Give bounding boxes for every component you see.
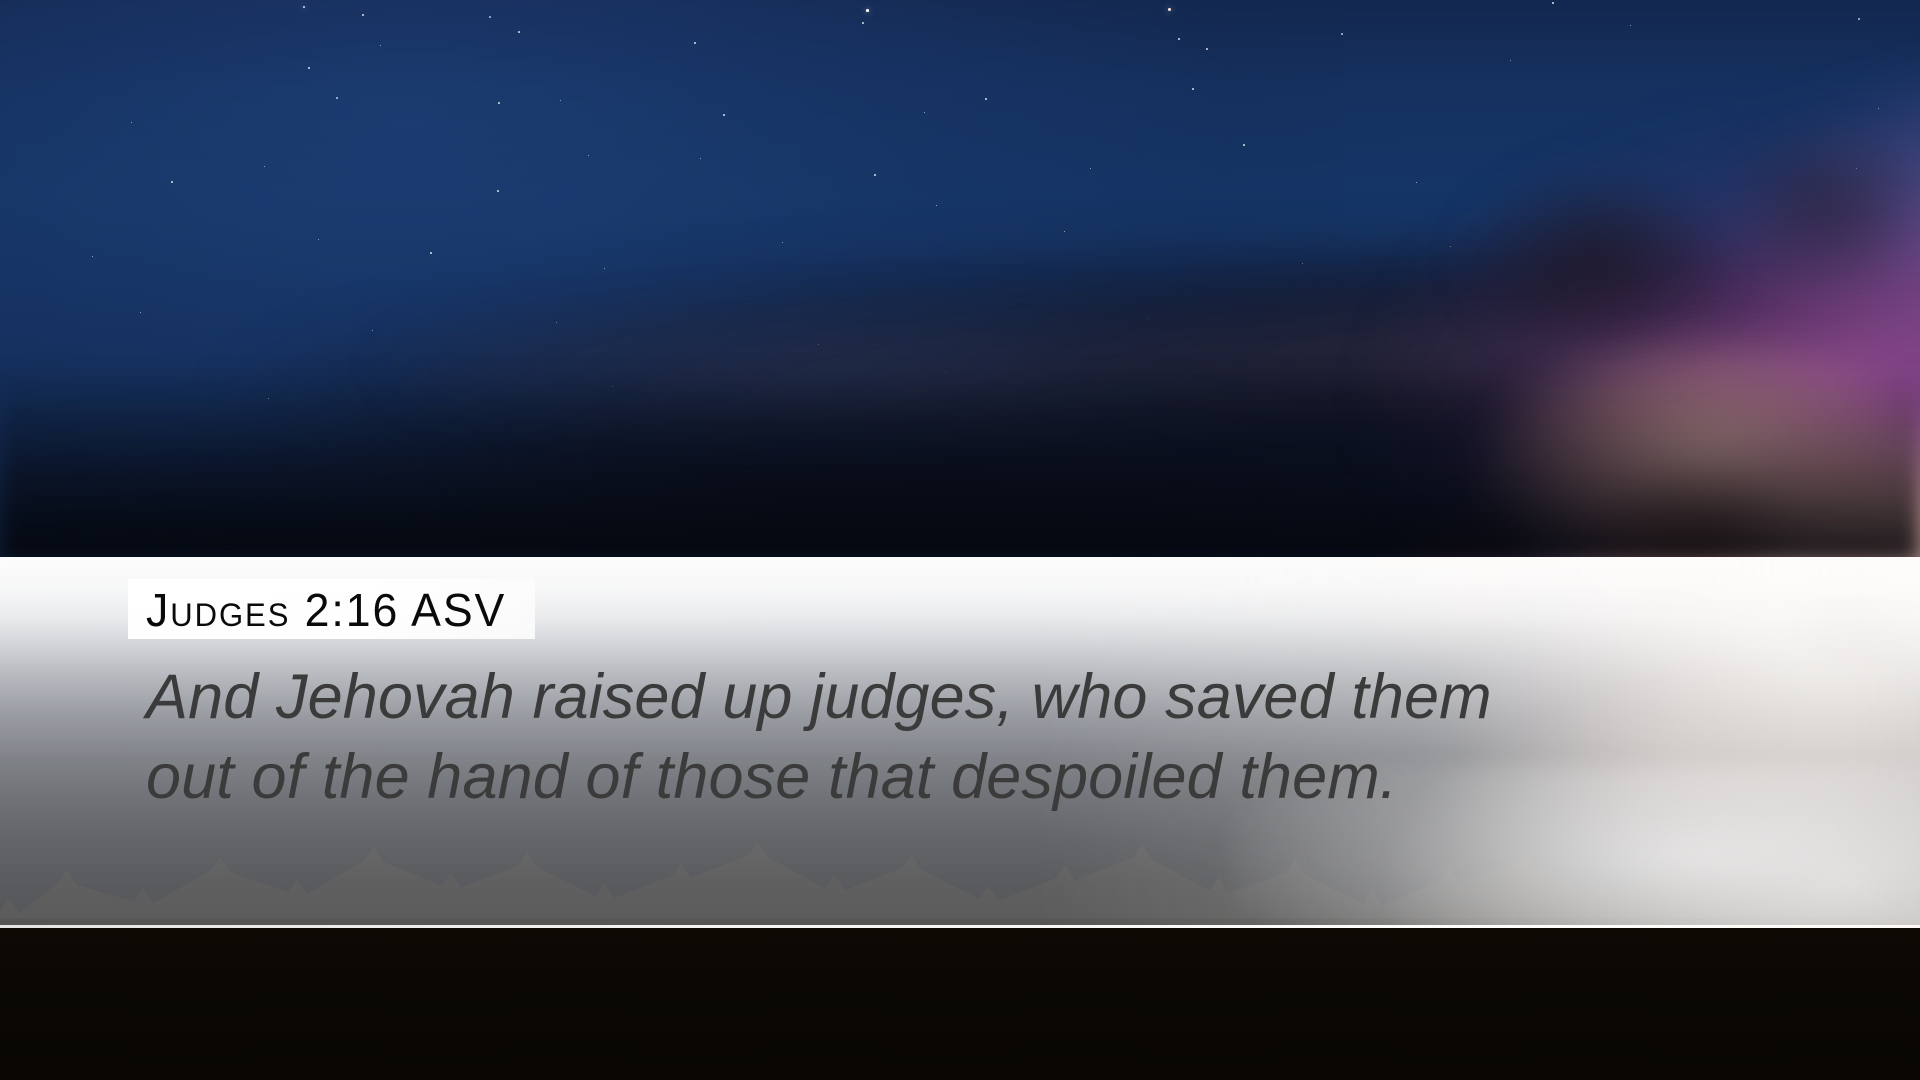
verse-body: And Jehovah raised up judges, who saved … <box>146 657 1646 817</box>
verse-line-1: And Jehovah raised up judges, who saved … <box>146 657 1646 737</box>
verse-line-2: out of the hand of those that despoiled … <box>146 737 1646 817</box>
verse-panel: Judges 2:16 ASV And Jehovah raised up ju… <box>0 557 1920 928</box>
verse-reference: Judges 2:16 ASV <box>146 579 535 639</box>
verse-wallpaper: Judges 2:16 ASV And Jehovah raised up ju… <box>0 0 1920 1080</box>
panel-bottom-edge <box>0 925 1920 928</box>
verse-text-stack: Judges 2:16 ASV And Jehovah raised up ju… <box>146 579 1846 817</box>
reference-label: Judges 2:16 ASV <box>146 585 506 637</box>
